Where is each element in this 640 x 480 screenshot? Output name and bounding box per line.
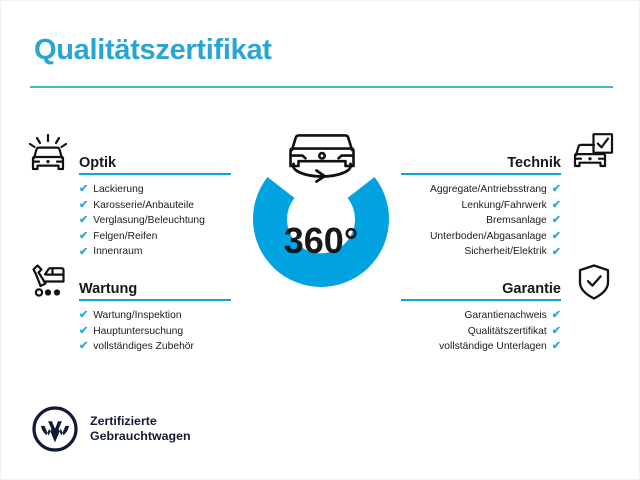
list-item-label: Qualitätszertifikat bbox=[468, 324, 547, 340]
list-item-label: Karosserie/Anbauteile bbox=[93, 198, 194, 214]
list-item: Unterboden/Abgasanlage ✔ bbox=[401, 229, 561, 245]
list-item-label: Aggregate/Antriebsstrang bbox=[430, 182, 547, 198]
check-icon: ✔ bbox=[552, 184, 561, 195]
check-icon: ✔ bbox=[552, 231, 561, 242]
check-icon: ✔ bbox=[552, 200, 561, 211]
page-title: Qualitätszertifikat bbox=[34, 34, 272, 67]
section-garantie-header: Garantie bbox=[401, 273, 561, 301]
section-garantie-list: Garantienachweis ✔ Qualitätszertifikat ✔… bbox=[401, 308, 561, 355]
section-technik: Technik Aggregate/Antriebsstrang ✔ Lenku… bbox=[401, 147, 561, 260]
section-optik-divider bbox=[79, 173, 231, 175]
section-technik-list: Aggregate/Antriebsstrang ✔ Lenkung/Fahrw… bbox=[401, 182, 561, 260]
list-item-label: Felgen/Reifen bbox=[93, 229, 157, 245]
check-icon: ✔ bbox=[552, 215, 561, 226]
list-item: ✔ Hauptuntersuchung bbox=[79, 324, 231, 340]
list-item: ✔ Karosserie/Anbauteile bbox=[79, 198, 231, 214]
volkswagen-logo bbox=[32, 406, 78, 452]
check-icon: ✔ bbox=[79, 184, 88, 195]
section-garantie-title: Garantie bbox=[502, 281, 561, 297]
check-icon: ✔ bbox=[79, 247, 88, 258]
list-item: ✔ Verglasung/Beleuchtung bbox=[79, 213, 231, 229]
list-item: Qualitätszertifikat ✔ bbox=[401, 324, 561, 340]
check-icon: ✔ bbox=[79, 310, 88, 321]
section-wartung-header: Wartung bbox=[79, 273, 231, 301]
check-icon: ✔ bbox=[79, 215, 88, 226]
section-technik-divider bbox=[401, 173, 561, 175]
list-item: ✔ Lackierung bbox=[79, 182, 231, 198]
car-checkbox-icon bbox=[569, 131, 615, 173]
list-item-label: vollständiges Zubehör bbox=[93, 339, 194, 355]
list-item: Aggregate/Antriebsstrang ✔ bbox=[401, 182, 561, 198]
list-item-label: Bremsanlage bbox=[486, 213, 547, 229]
list-item: vollständige Unterlagen ✔ bbox=[401, 339, 561, 355]
list-item: Sicherheit/Elektrik ✔ bbox=[401, 244, 561, 260]
section-garantie: Garantie Garantienachweis ✔ Qualitätszer… bbox=[401, 273, 561, 355]
list-item: ✔ Wartung/Inspektion bbox=[79, 308, 231, 324]
section-technik-title: Technik bbox=[507, 155, 561, 171]
section-technik-header: Technik bbox=[401, 147, 561, 175]
list-item: Bremsanlage ✔ bbox=[401, 213, 561, 229]
list-item-label: Verglasung/Beleuchtung bbox=[93, 213, 205, 229]
car-shine-icon bbox=[25, 133, 71, 175]
section-optik-header: Optik bbox=[79, 147, 231, 175]
list-item-label: Wartung/Inspektion bbox=[93, 308, 181, 324]
footer-line-2: Gebrauchtwagen bbox=[90, 429, 191, 445]
section-wartung-list: ✔ Wartung/Inspektion ✔ Hauptuntersuchung… bbox=[79, 308, 231, 355]
list-item: ✔ vollständiges Zubehör bbox=[79, 339, 231, 355]
list-item-label: Unterboden/Abgasanlage bbox=[430, 229, 547, 245]
section-optik-title: Optik bbox=[79, 155, 116, 171]
list-item-label: Sicherheit/Elektrik bbox=[464, 244, 546, 260]
shield-check-icon bbox=[571, 261, 617, 303]
check-icon: ✔ bbox=[79, 341, 88, 352]
check-icon: ✔ bbox=[79, 231, 88, 242]
list-item-label: vollständige Unterlagen bbox=[439, 339, 547, 355]
list-item: ✔ Felgen/Reifen bbox=[79, 229, 231, 245]
list-item-label: Garantienachweis bbox=[464, 308, 546, 324]
section-optik: Optik ✔ Lackierung ✔ Karosserie/Anbautei… bbox=[79, 147, 231, 260]
list-item-label: Innenraum bbox=[93, 244, 142, 260]
list-item-label: Hauptuntersuchung bbox=[93, 324, 183, 340]
check-icon: ✔ bbox=[79, 326, 88, 337]
list-item: Lenkung/Fahrwerk ✔ bbox=[401, 198, 561, 214]
badge-center-label: 360° bbox=[284, 220, 358, 261]
wrench-car-icon bbox=[25, 260, 71, 302]
car-rotate-icon bbox=[291, 135, 354, 181]
check-icon: ✔ bbox=[552, 247, 561, 258]
list-item: ✔ Innenraum bbox=[79, 244, 231, 260]
section-wartung-title: Wartung bbox=[79, 281, 137, 297]
check-icon: ✔ bbox=[79, 200, 88, 211]
section-garantie-divider bbox=[401, 299, 561, 301]
section-wartung: Wartung ✔ Wartung/Inspektion ✔ Hauptunte… bbox=[79, 273, 231, 355]
footer-line-1: Zertifizierte bbox=[90, 414, 191, 430]
section-wartung-divider bbox=[79, 299, 231, 301]
check-icon: ✔ bbox=[552, 310, 561, 321]
badge-360-gebrauchtwagen-check: Gebrauchtwagen-Check 360° bbox=[226, 116, 416, 311]
quality-certificate-page: Qualitätszertifikat Optik ✔ Lackierung ✔… bbox=[0, 0, 640, 480]
check-icon: ✔ bbox=[552, 326, 561, 337]
check-icon: ✔ bbox=[552, 341, 561, 352]
list-item-label: Lenkung/Fahrwerk bbox=[462, 198, 547, 214]
title-divider bbox=[30, 86, 613, 88]
section-optik-list: ✔ Lackierung ✔ Karosserie/Anbauteile ✔ V… bbox=[79, 182, 231, 260]
footer-text: Zertifizierte Gebrauchtwagen bbox=[90, 414, 191, 445]
list-item: Garantienachweis ✔ bbox=[401, 308, 561, 324]
list-item-label: Lackierung bbox=[93, 182, 143, 198]
footer-brand: Zertifizierte Gebrauchtwagen bbox=[32, 406, 191, 452]
